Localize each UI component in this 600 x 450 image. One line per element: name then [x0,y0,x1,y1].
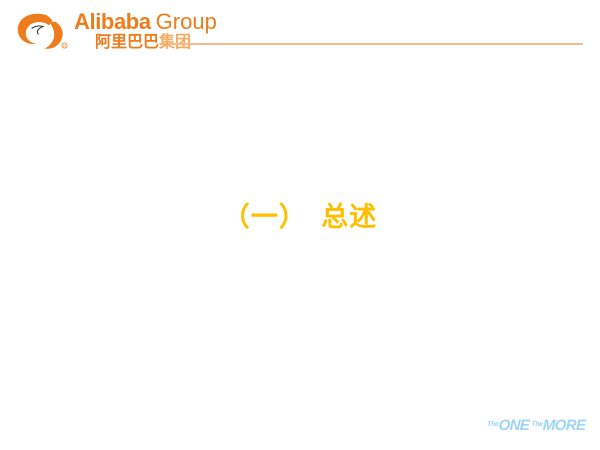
logo-text-alibaba: Alibaba [74,9,151,34]
watermark-one: ONE [498,417,529,434]
header-divider-line [172,43,583,45]
logo-wordmark-chinese: 阿里巴巴集团 [95,32,191,52]
template-watermark: TheONETheMORE [486,417,585,433]
watermark-the-2: The [531,421,543,428]
alibaba-group-logo: R AlibabaGroup 阿里巴巴集团 [16,10,226,54]
section-title: （一） 总述 [0,195,600,234]
logo-text-alibaba-cn: 阿里巴巴 [95,32,159,51]
logo-wordmark-english: AlibabaGroup [74,10,217,34]
watermark-more: MORE [542,417,585,434]
presentation-slide: R AlibabaGroup 阿里巴巴集团 （一） 总述 TheONETheMO… [0,0,600,450]
slide-body: （一） 总述 [0,60,600,410]
watermark-the-1: The [486,421,498,428]
logo-text-group-cn: 集团 [159,32,191,51]
slide-header: R AlibabaGroup 阿里巴巴集团 [0,0,600,60]
alibaba-smile-logo-mark-icon: R [16,12,72,52]
logo-text-group: Group [156,9,217,34]
